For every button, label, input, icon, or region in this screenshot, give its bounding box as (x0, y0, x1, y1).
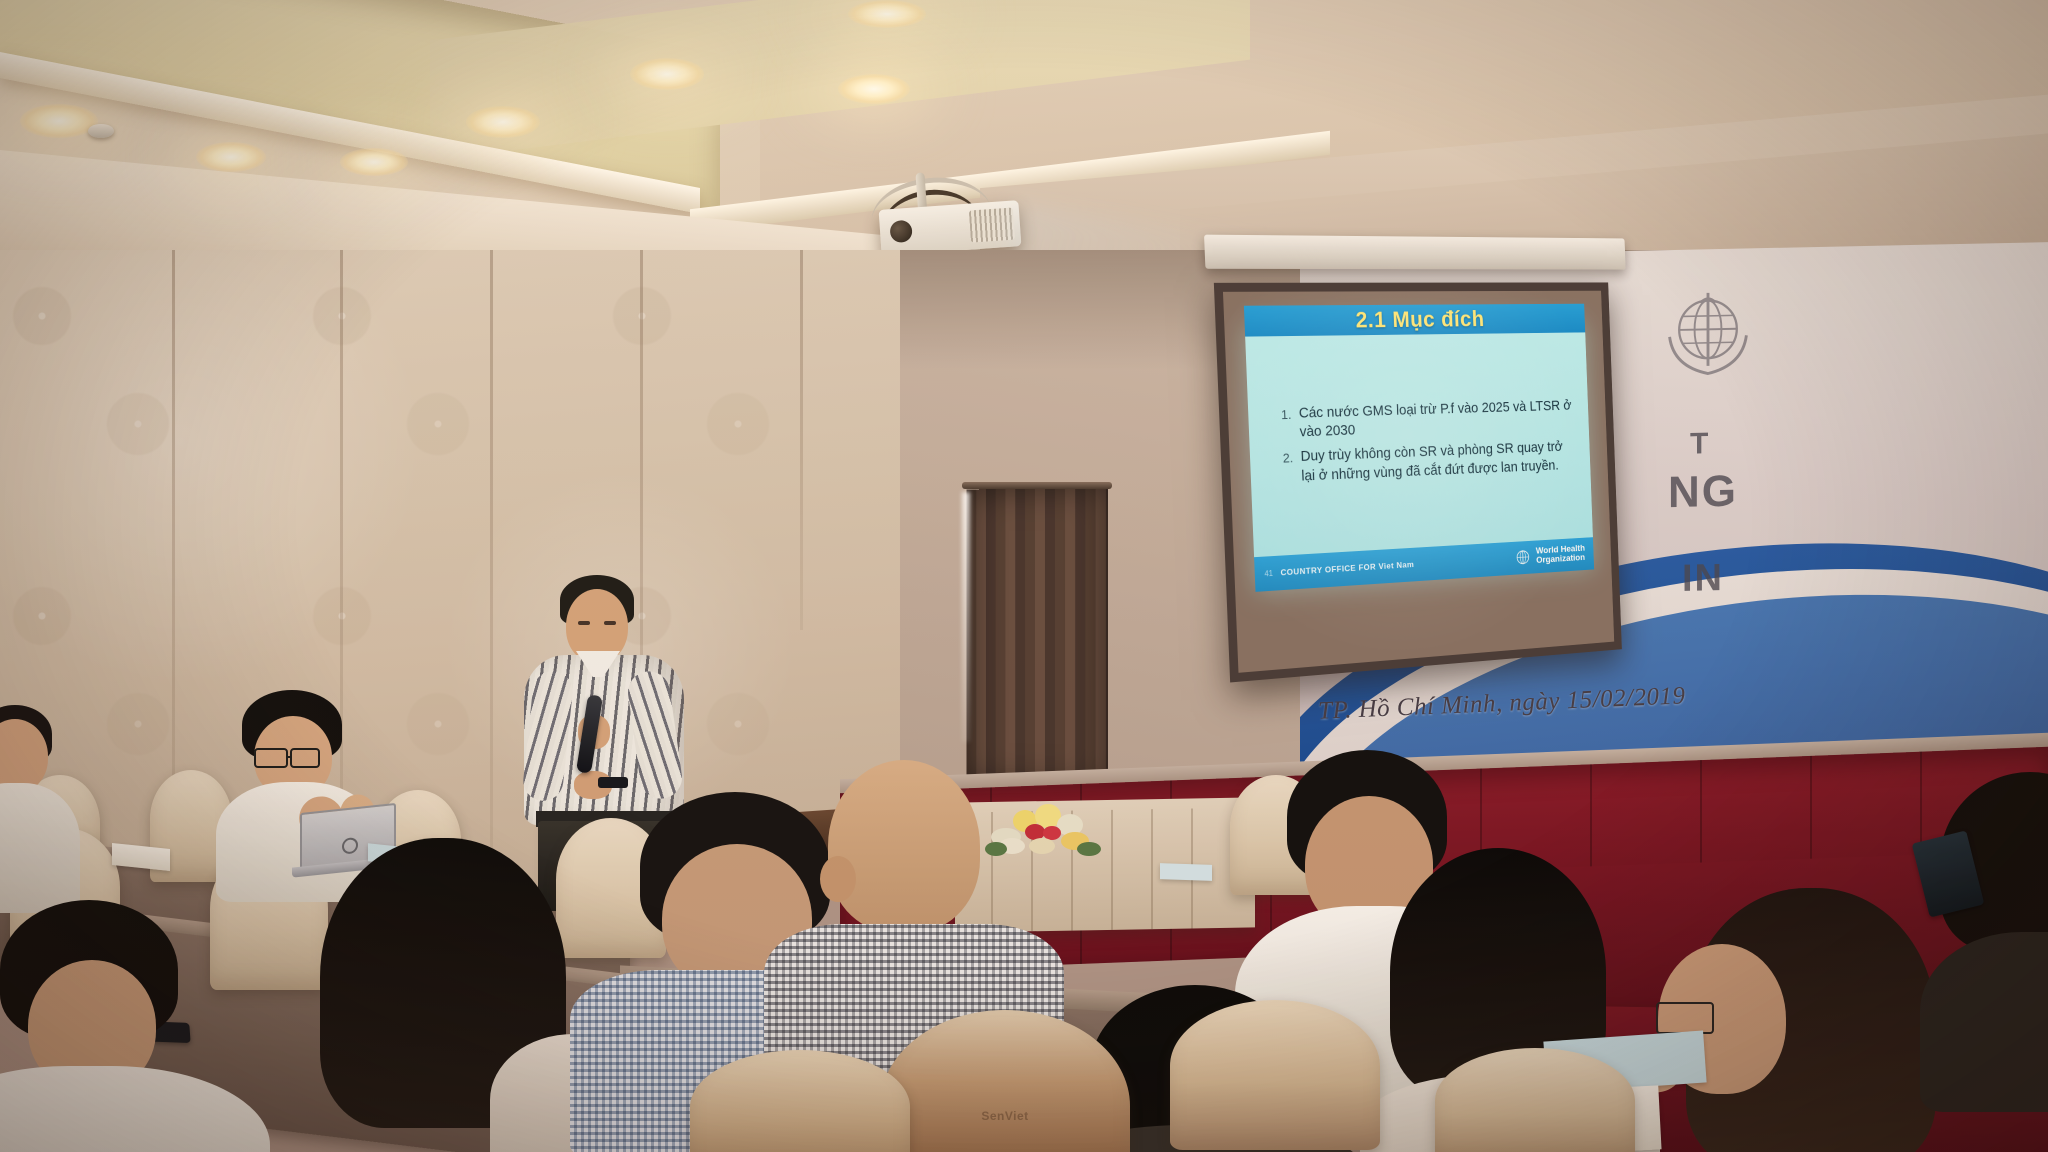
paper-document (1160, 863, 1212, 881)
window-curtain (967, 484, 1108, 790)
slide-bullet-number: 2. (1282, 449, 1294, 488)
screen-surface: 2.1 Mục đích 1.Các nước GMS loại trừ P.f… (1223, 291, 1614, 673)
slide-bullet-text: Các nước GMS loại trừ P.f vào 2025 và LT… (1299, 397, 1574, 443)
eyeglasses (1656, 1002, 1714, 1034)
recessed-downlight (838, 74, 910, 104)
slide-bullet: 1.Các nước GMS loại trừ P.f vào 2025 và … (1281, 397, 1573, 443)
projector-lens (889, 220, 912, 243)
recessed-downlight (630, 58, 704, 90)
slide-clicker[interactable] (598, 777, 628, 788)
slide-title: 2.1 Mục đích (1355, 306, 1485, 333)
wall-seam (800, 250, 803, 630)
slide-bullet-text: Duy trùy không còn SR và phòng SR quay t… (1300, 439, 1574, 487)
slide-page-number: 41 (1264, 569, 1273, 578)
recessed-downlight (466, 106, 540, 138)
chair-foreground[interactable] (1435, 1048, 1635, 1152)
woman-dark-hair-left (310, 838, 610, 1152)
ear (820, 856, 856, 902)
recessed-downlight (848, 0, 926, 28)
man-bottom-left (0, 900, 250, 1152)
recessed-downlight (20, 104, 98, 138)
curtain-rod (962, 482, 1112, 489)
projection-screen: 2.1 Mục đích 1.Các nước GMS loại trừ P.f… (1214, 282, 1622, 682)
smoke-detector-icon (88, 124, 114, 138)
slide-footer-org: World Health Organization (1536, 545, 1586, 567)
slide-title-bar: 2.1 Mục đích (1244, 304, 1585, 337)
backdrop-line-1: T (1690, 427, 1710, 461)
screen-frame: 2.1 Mục đích 1.Các nước GMS loại trừ P.f… (1214, 282, 1622, 682)
curtain-light-gap (962, 492, 970, 742)
recessed-downlight (340, 148, 408, 176)
man-front-left (0, 705, 90, 905)
who-emblem-icon (1660, 282, 1756, 380)
slide-footer: 41 COUNTRY OFFICE FOR Viet Nam World Hea… (1254, 537, 1594, 591)
slide-bullet: 2.Duy trùy không còn SR và phòng SR quay… (1282, 439, 1574, 488)
chair-foreground[interactable] (1170, 1000, 1380, 1150)
slide-footer-who-logo: World Health Organization (1514, 545, 1585, 568)
who-line-2: Organization (1536, 553, 1585, 566)
wall-seam (490, 250, 493, 890)
recessed-downlight (196, 142, 266, 172)
screen-roller-case (1204, 235, 1626, 270)
who-emblem-icon (1514, 548, 1532, 568)
conference-room-scene: T NG IN TP. Hồ Chí Minh, ngày 15/02/2019… (0, 0, 2048, 1152)
slide-bullet-number: 1. (1281, 405, 1293, 444)
presentation-slide: 2.1 Mục đích 1.Các nước GMS loại trừ P.f… (1245, 323, 1594, 592)
backdrop-line-2: NG (1668, 467, 1738, 518)
slide-footer-office: COUNTRY OFFICE FOR Viet Nam (1280, 560, 1414, 578)
person-far-right (1940, 772, 2048, 1072)
slide-bullet-list: 1.Các nước GMS loại trừ P.f vào 2025 và … (1281, 397, 1575, 493)
ceiling-projector (879, 200, 1022, 256)
projector-vent (969, 208, 1015, 243)
backdrop-line-3: IN (1682, 557, 1724, 601)
chair-brand-label: SenViet (981, 1109, 1028, 1123)
